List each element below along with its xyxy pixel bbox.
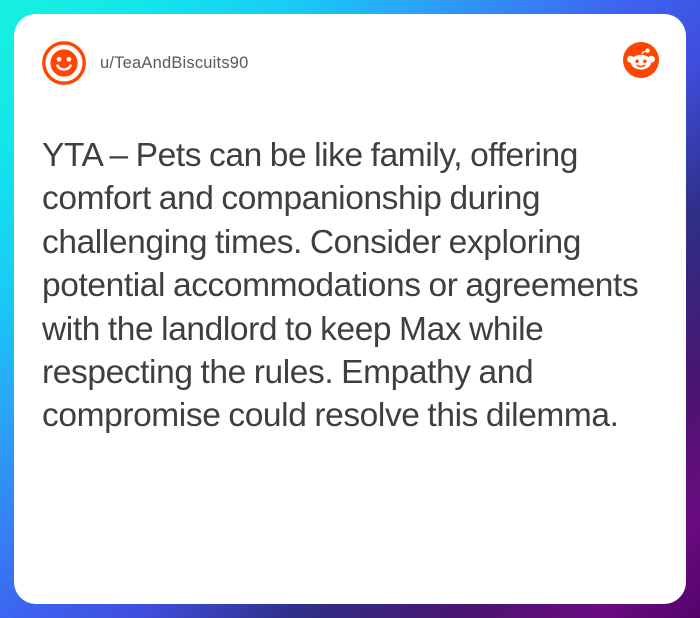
reddit-comment-card: u/TeaAndBiscuits90 YTA – (14, 14, 686, 604)
reddit-snoo-icon[interactable] (623, 42, 659, 78)
gradient-backdrop: u/TeaAndBiscuits90 YTA – (0, 0, 700, 618)
comment-text: YTA – Pets can be like family, offering … (42, 134, 658, 438)
card-header: u/TeaAndBiscuits90 (42, 40, 658, 86)
card-body: YTA – Pets can be like family, offering … (42, 134, 658, 576)
smiley-face-avatar-icon[interactable] (42, 41, 86, 85)
username-label: u/TeaAndBiscuits90 (100, 54, 249, 73)
